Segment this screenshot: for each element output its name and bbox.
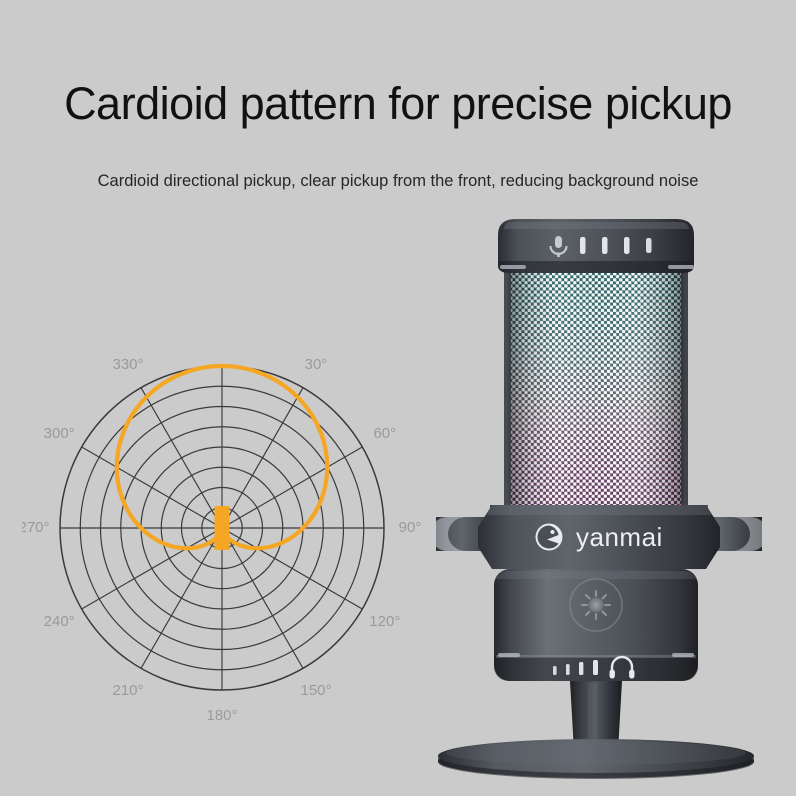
grid-spoke [141, 388, 222, 528]
page-subtitle: Cardioid directional pickup, clear picku… [0, 172, 796, 191]
angle-tick-label: 180° [206, 707, 237, 724]
eagle-circle-logo-icon [536, 524, 563, 551]
product-microphone-image: yanmai [430, 205, 770, 796]
rgb-mesh-grille [504, 263, 688, 507]
product-marketing-slide: Cardioid pattern for precise pickup Card… [0, 0, 796, 796]
angle-tick-label: 60° [373, 425, 396, 442]
grid-spoke [82, 528, 222, 609]
grid-spoke [222, 447, 362, 528]
angle-tick-label: 90° [399, 519, 422, 536]
angle-tick-label: 210° [112, 682, 143, 699]
grid-spoke [82, 447, 222, 528]
top-cap [498, 219, 694, 273]
brightness-sun-icon [582, 591, 610, 619]
grid-spoke [222, 388, 303, 528]
control-body [494, 569, 698, 683]
shock-mount-ring: yanmai [430, 505, 768, 569]
page-title: Cardioid pattern for precise pickup [0, 78, 796, 130]
grid-spoke [222, 528, 362, 609]
angle-tick-label: 300° [44, 425, 75, 442]
angle-tick-label: 120° [369, 613, 400, 630]
angle-tick-label: 240° [44, 613, 75, 630]
angle-tick-label: 330° [112, 358, 143, 373]
polar-pattern-chart: 0°30°60°90°120°150°180°210°240°270°300°3… [22, 358, 422, 748]
round-base [438, 739, 754, 779]
angle-tick-label: 270° [22, 519, 50, 536]
center-null-marker [215, 506, 230, 550]
angle-tick-label: 150° [300, 682, 331, 699]
angle-tick-label: 30° [305, 358, 328, 373]
brand-name: yanmai [576, 522, 663, 552]
